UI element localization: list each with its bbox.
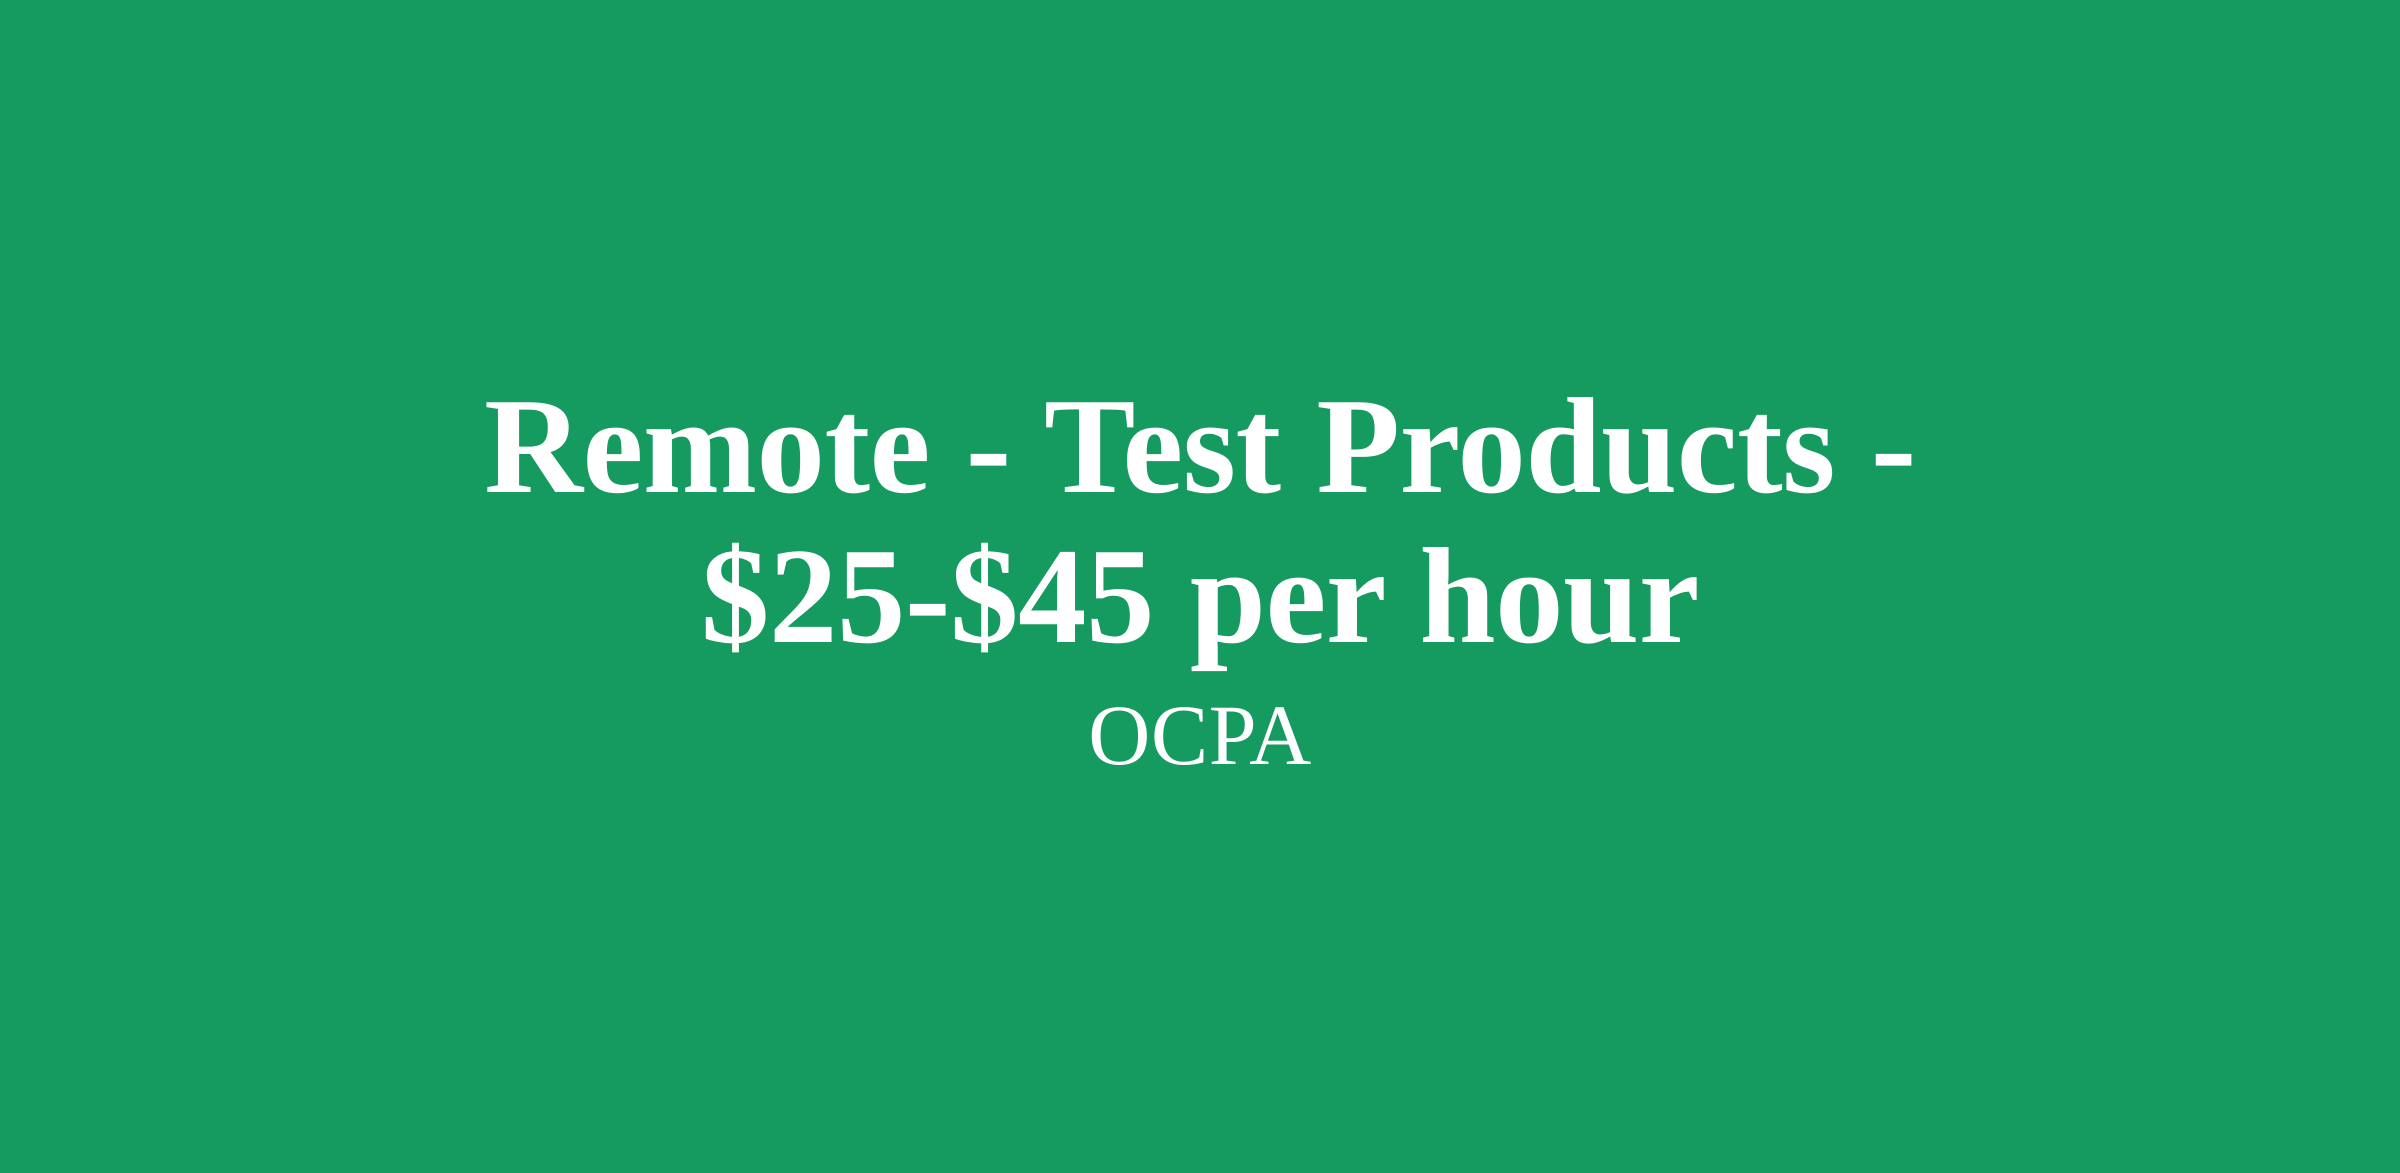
share-card: Remote - Test Products - $25-$45 per hou… xyxy=(0,0,2400,1173)
card-subtitle: OCPA xyxy=(420,689,1980,781)
card-text-block: Remote - Test Products - $25-$45 per hou… xyxy=(0,371,2400,781)
card-title: Remote - Test Products - $25-$45 per hou… xyxy=(420,371,1980,671)
